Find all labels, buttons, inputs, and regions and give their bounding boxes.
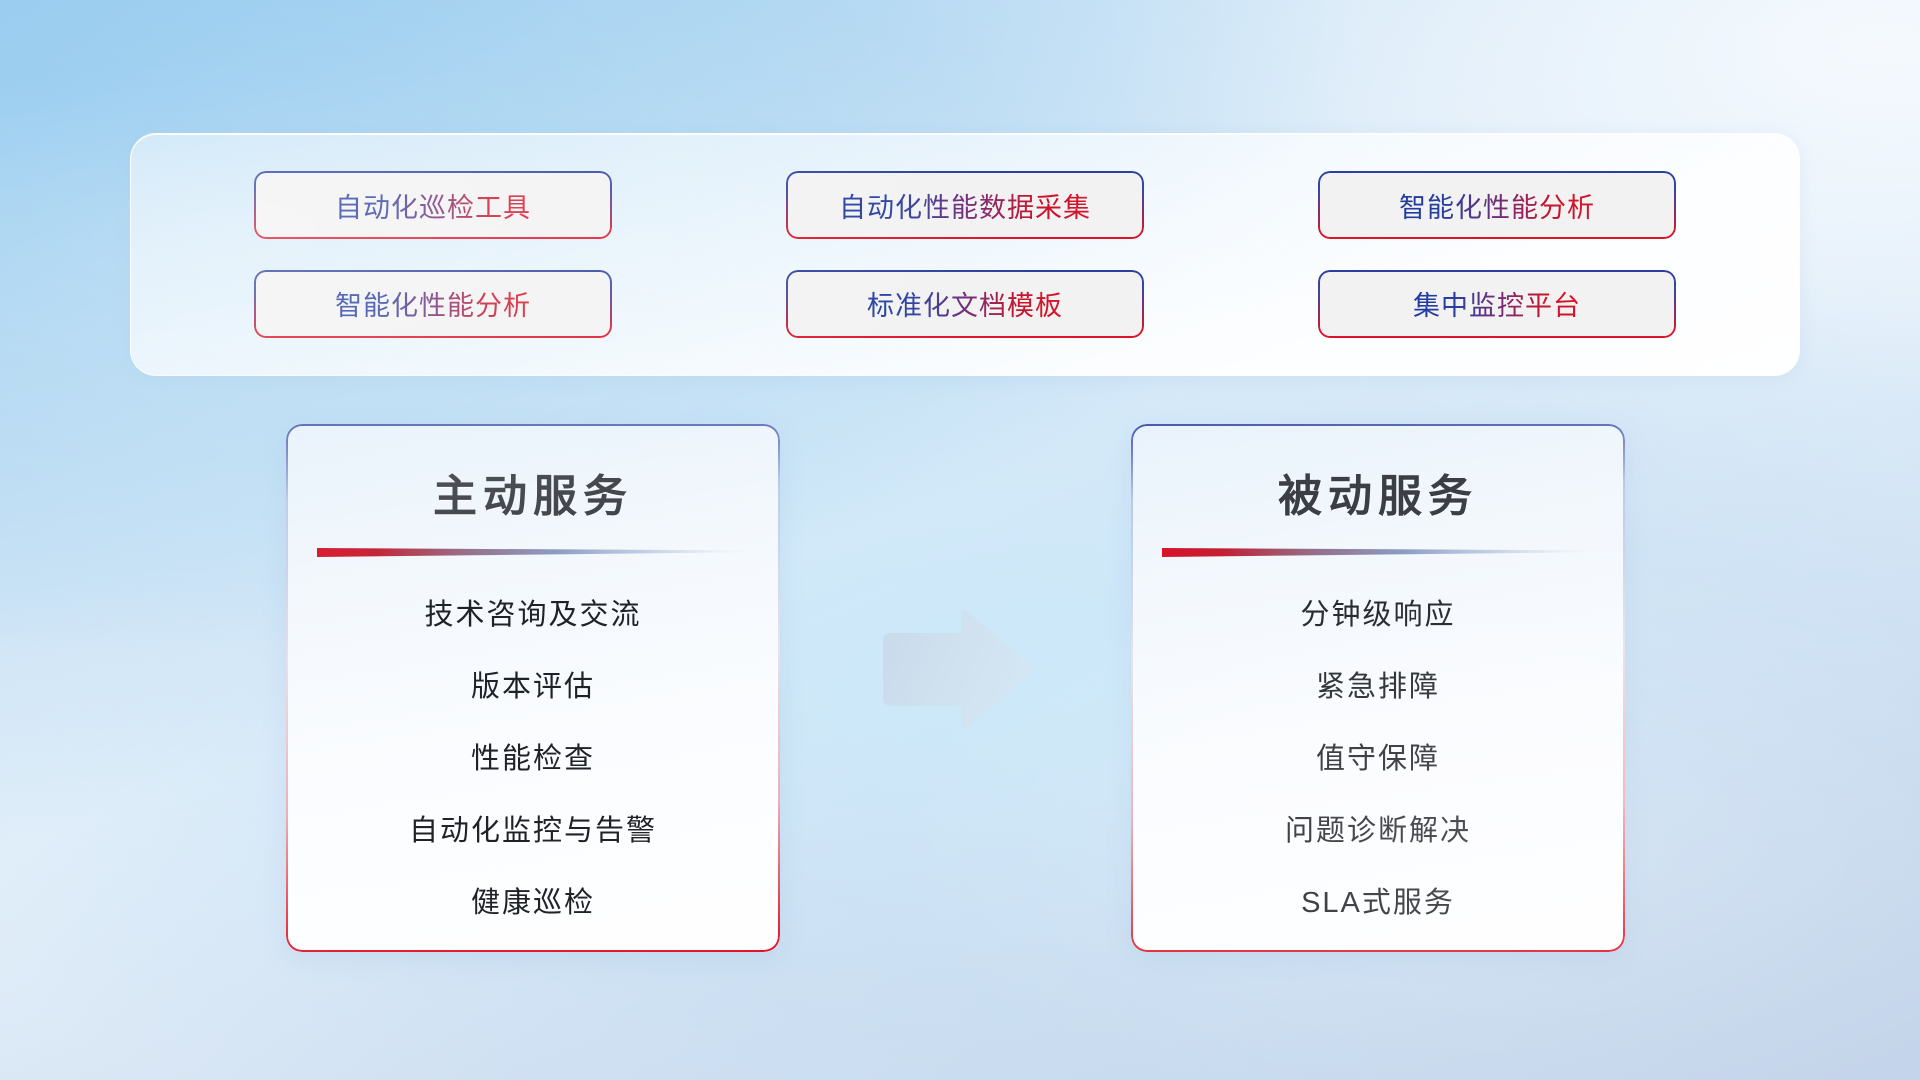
capability-pill-5[interactable]: 标准化文档模板 (788, 272, 1142, 336)
arrow-right-icon (875, 605, 1037, 735)
service-list-item[interactable]: 技术咨询及交流 (286, 601, 780, 630)
service-list-passive: 分钟级响应 紧急排障 值守保障 问题诊断解决 SLA式服务 (1131, 557, 1625, 918)
service-list-item[interactable]: 紧急排障 (1131, 673, 1625, 702)
service-list-item[interactable]: 值守保障 (1131, 745, 1625, 774)
service-list-item[interactable]: 分钟级响应 (1131, 601, 1625, 630)
capability-pill-3[interactable]: 智能化性能分析 (1320, 173, 1674, 237)
service-card-active[interactable]: 主动服务 技术咨询及交流 版本评估 性能检查 (286, 424, 780, 952)
capability-pill-4[interactable]: 智能化性能分析 (256, 272, 610, 336)
capability-pill-6[interactable]: 集中监控平台 (1320, 272, 1674, 336)
capability-pill-label: 智能化性能分析 (335, 284, 531, 323)
service-list-item[interactable]: 健康巡检 (286, 889, 780, 918)
capability-pill-label: 智能化性能分析 (1399, 186, 1595, 225)
service-card-passive[interactable]: 被动服务 分钟级响应 紧急排障 值守保障 (1131, 424, 1625, 952)
slide-canvas: 自动化巡检工具 自动化性能数据采集 智能化性能分析 智能化性能分析 标准化文档模… (0, 0, 1920, 1080)
capability-pill-2[interactable]: 自动化性能数据采集 (788, 173, 1142, 237)
capability-pill-label: 自动化巡检工具 (335, 186, 531, 225)
card-title: 被动服务 (1131, 460, 1625, 524)
service-list-item[interactable]: 性能检查 (286, 745, 780, 774)
service-list-item[interactable]: 版本评估 (286, 673, 780, 702)
service-list-item[interactable]: 自动化监控与告警 (286, 817, 780, 846)
title-divider (1162, 546, 1594, 557)
service-list-item[interactable]: 问题诊断解决 (1131, 817, 1625, 846)
capability-pill-label: 自动化性能数据采集 (839, 186, 1091, 225)
capability-panel: 自动化巡检工具 自动化性能数据采集 智能化性能分析 智能化性能分析 标准化文档模… (130, 133, 1800, 376)
title-divider (317, 546, 749, 557)
service-list-item[interactable]: SLA式服务 (1131, 889, 1625, 918)
card-title: 主动服务 (286, 460, 780, 524)
capability-pill-label: 集中监控平台 (1413, 284, 1581, 323)
capability-pill-1[interactable]: 自动化巡检工具 (256, 173, 610, 237)
service-list-active: 技术咨询及交流 版本评估 性能检查 自动化监控与告警 健康巡检 (286, 557, 780, 918)
capability-pill-label: 标准化文档模板 (867, 284, 1063, 323)
